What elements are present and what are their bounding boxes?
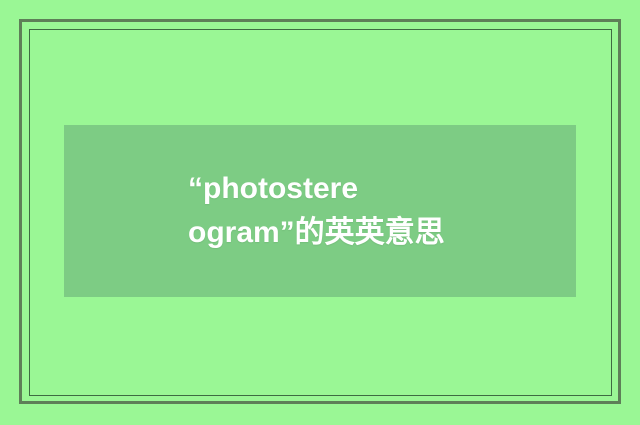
page-canvas: “photostere ogram”的英英意思 [0, 0, 640, 425]
title-panel: “photostere ogram”的英英意思 [64, 125, 576, 297]
page-title: “photostere ogram”的英英意思 [188, 167, 558, 255]
